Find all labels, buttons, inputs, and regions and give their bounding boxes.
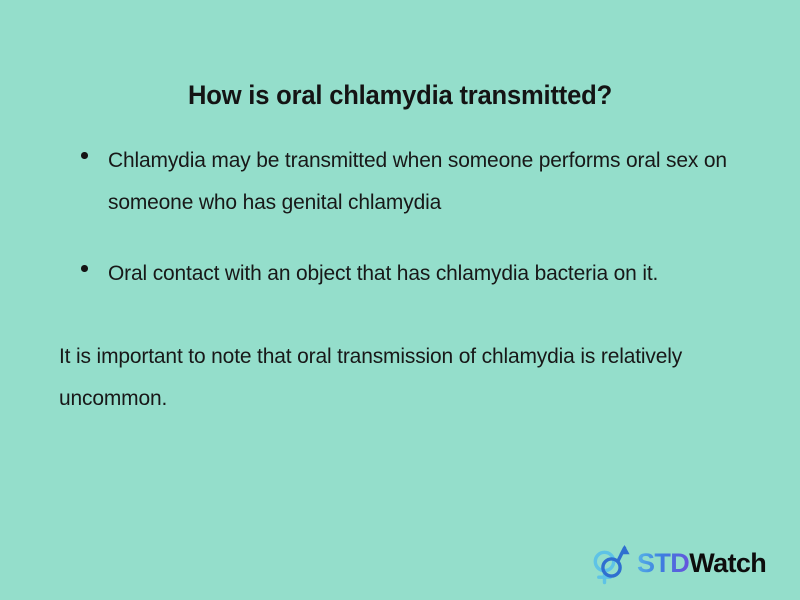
gender-symbols-icon bbox=[588, 540, 634, 586]
brand-wordmark-watch: Watch bbox=[689, 548, 766, 578]
list-item-text: Chlamydia may be transmitted when someon… bbox=[108, 139, 752, 223]
bullet-dot-icon bbox=[81, 265, 88, 272]
bullet-dot-icon bbox=[81, 152, 88, 159]
list-item: Oral contact with an object that has chl… bbox=[59, 252, 759, 294]
brand-wordmark-std: STD bbox=[637, 548, 689, 578]
list-item: Chlamydia may be transmitted when someon… bbox=[59, 139, 759, 223]
closing-note-text: It is important to note that oral transm… bbox=[59, 335, 756, 419]
brand-wordmark: STD Watch bbox=[637, 548, 766, 578]
slide-canvas: How is oral chlamydia transmitted? Chlam… bbox=[0, 0, 800, 600]
list-item-text: Oral contact with an object that has chl… bbox=[108, 252, 752, 294]
slide-body: Chlamydia may be transmitted when someon… bbox=[59, 139, 759, 419]
arrow-head-icon bbox=[619, 545, 629, 554]
brand-logo: STD Watch bbox=[588, 538, 784, 588]
page-title: How is oral chlamydia transmitted? bbox=[14, 78, 786, 112]
